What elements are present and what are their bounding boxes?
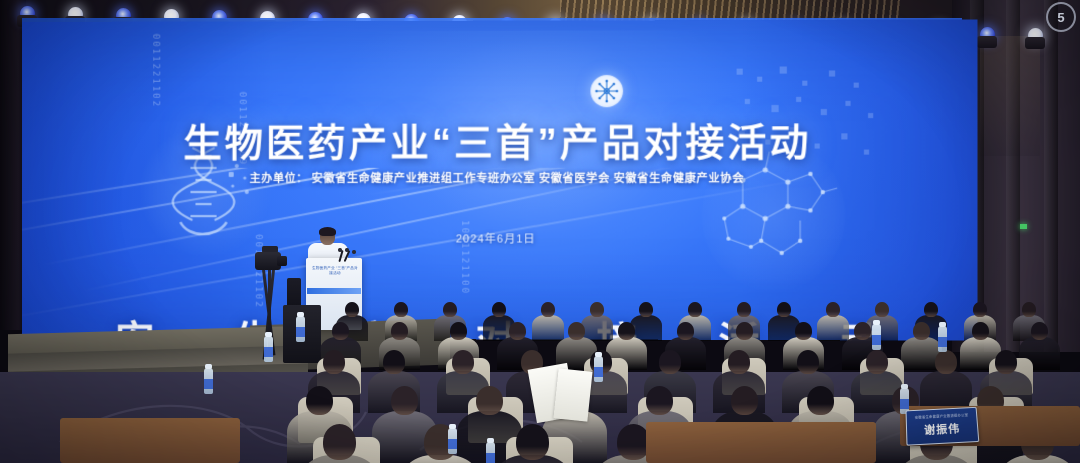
audience-person-head (443, 302, 457, 317)
exit-light-icon (1020, 224, 1027, 229)
bottle-cap (265, 332, 272, 337)
audience-person-head (677, 322, 694, 340)
audience-person-head (639, 302, 653, 317)
audience-person-head (323, 350, 345, 374)
bottle-label (204, 379, 213, 389)
audience-person-head (688, 302, 702, 317)
audience-person-head (1031, 322, 1048, 340)
water-bottle (872, 324, 881, 350)
audience-person-body (532, 315, 564, 341)
audience-person-head (854, 322, 871, 340)
water-bottle (486, 442, 495, 463)
audience-person-head (731, 386, 758, 415)
audience-person-head (516, 424, 549, 460)
audience-person-head (568, 322, 585, 340)
audience-person-head (492, 302, 506, 317)
speaker-hair (319, 227, 336, 236)
bottle-cap (205, 364, 212, 369)
bottle-label (900, 399, 909, 409)
audience-person-head (306, 386, 333, 415)
audience-person-head (973, 302, 987, 317)
microphone-head (338, 248, 342, 252)
audience-person-head (323, 424, 356, 460)
audience-person-head (728, 350, 750, 374)
audience-person-head (737, 302, 751, 317)
audience-person-head (391, 386, 418, 415)
placard-org: 安徽省生命健康产业推进组办公室 (907, 412, 977, 420)
audience-person-head (618, 322, 635, 340)
molecule-emblem-icon (590, 75, 623, 107)
wall-panel (980, 36, 1040, 156)
audience-person-head (1022, 302, 1036, 317)
audience-person-head (332, 322, 349, 340)
audience-person-head (345, 302, 359, 317)
stage-lamp (1028, 28, 1043, 43)
audience-person-head (450, 322, 467, 340)
audience-person-head (795, 322, 812, 340)
bottle-label (486, 453, 495, 463)
bottle-label (264, 347, 273, 357)
round-table (60, 418, 240, 463)
audience-person-head (826, 302, 840, 317)
audience-person-head (866, 350, 888, 374)
bottle-label (296, 327, 305, 337)
audience-person-head (995, 350, 1017, 374)
bottle-label (448, 439, 457, 449)
audience-person-head (476, 386, 503, 415)
water-bottle (448, 428, 457, 454)
light-streak (82, 168, 716, 292)
bottle-cap (873, 320, 880, 325)
audience-person-head (383, 350, 405, 374)
document-sheet (553, 368, 592, 421)
camera-lens-icon (277, 256, 287, 266)
bottle-label (594, 367, 603, 377)
audience-person-head (509, 322, 526, 340)
emblem-svg (593, 78, 620, 104)
stage-lamp-housing (977, 36, 997, 48)
bottle-label (938, 337, 947, 347)
audience-person-head (646, 386, 673, 415)
audience-person-head (541, 302, 555, 317)
bottle-cap (487, 438, 494, 443)
water-bottle (204, 368, 213, 394)
audience-person-head (797, 350, 819, 374)
audience-person-head (913, 322, 930, 340)
audience-person-head (452, 350, 474, 374)
podium-text: 生物医药产业 “三首”产品对接活动 (312, 266, 358, 276)
microphone-head (352, 250, 356, 254)
audience-person-head (659, 350, 681, 374)
stage-lamp (980, 27, 995, 42)
bottle-cap (939, 322, 946, 327)
audience-person-head (777, 302, 791, 317)
bottle-label (872, 335, 881, 345)
watermark-badge: 5 (1046, 2, 1076, 32)
round-table (646, 422, 876, 463)
audience-person-head (617, 424, 650, 460)
event-title: 生物医药产业“三首”产品对接活动 (22, 111, 977, 167)
audience-person-head (590, 302, 604, 317)
water-bottle (594, 356, 603, 382)
placard-name: 谢振伟 (907, 419, 978, 438)
audience-person-head (935, 350, 957, 374)
led-video-wall: 0011221102 0011221109 0011221102 1001121… (22, 19, 977, 340)
audience-person-head (736, 322, 753, 340)
name-placard: 安徽省生命健康产业推进组办公室 谢振伟 (906, 407, 980, 446)
audience-person-head (875, 302, 889, 317)
water-bottle (938, 326, 947, 352)
binary-column: 0011221102 (150, 34, 160, 108)
bottle-cap (595, 352, 602, 357)
podium-accent-band (307, 288, 361, 294)
microphone-head (345, 248, 349, 252)
audience-person-head (924, 302, 938, 317)
bottle-cap (901, 384, 908, 389)
bottle-cap (449, 424, 456, 429)
stage-lamp-housing (1025, 37, 1045, 49)
conference-photo-scene: 0011221102 0011221109 0011221102 1001121… (0, 0, 1080, 463)
audience-person-body (817, 315, 849, 341)
water-bottle (296, 316, 305, 342)
bottle-cap (297, 312, 304, 317)
audience-person-head (391, 322, 408, 340)
audience-person-head (394, 302, 408, 317)
audience-person-head (972, 322, 989, 340)
water-bottle (264, 336, 273, 362)
audience-person-head (807, 386, 834, 415)
